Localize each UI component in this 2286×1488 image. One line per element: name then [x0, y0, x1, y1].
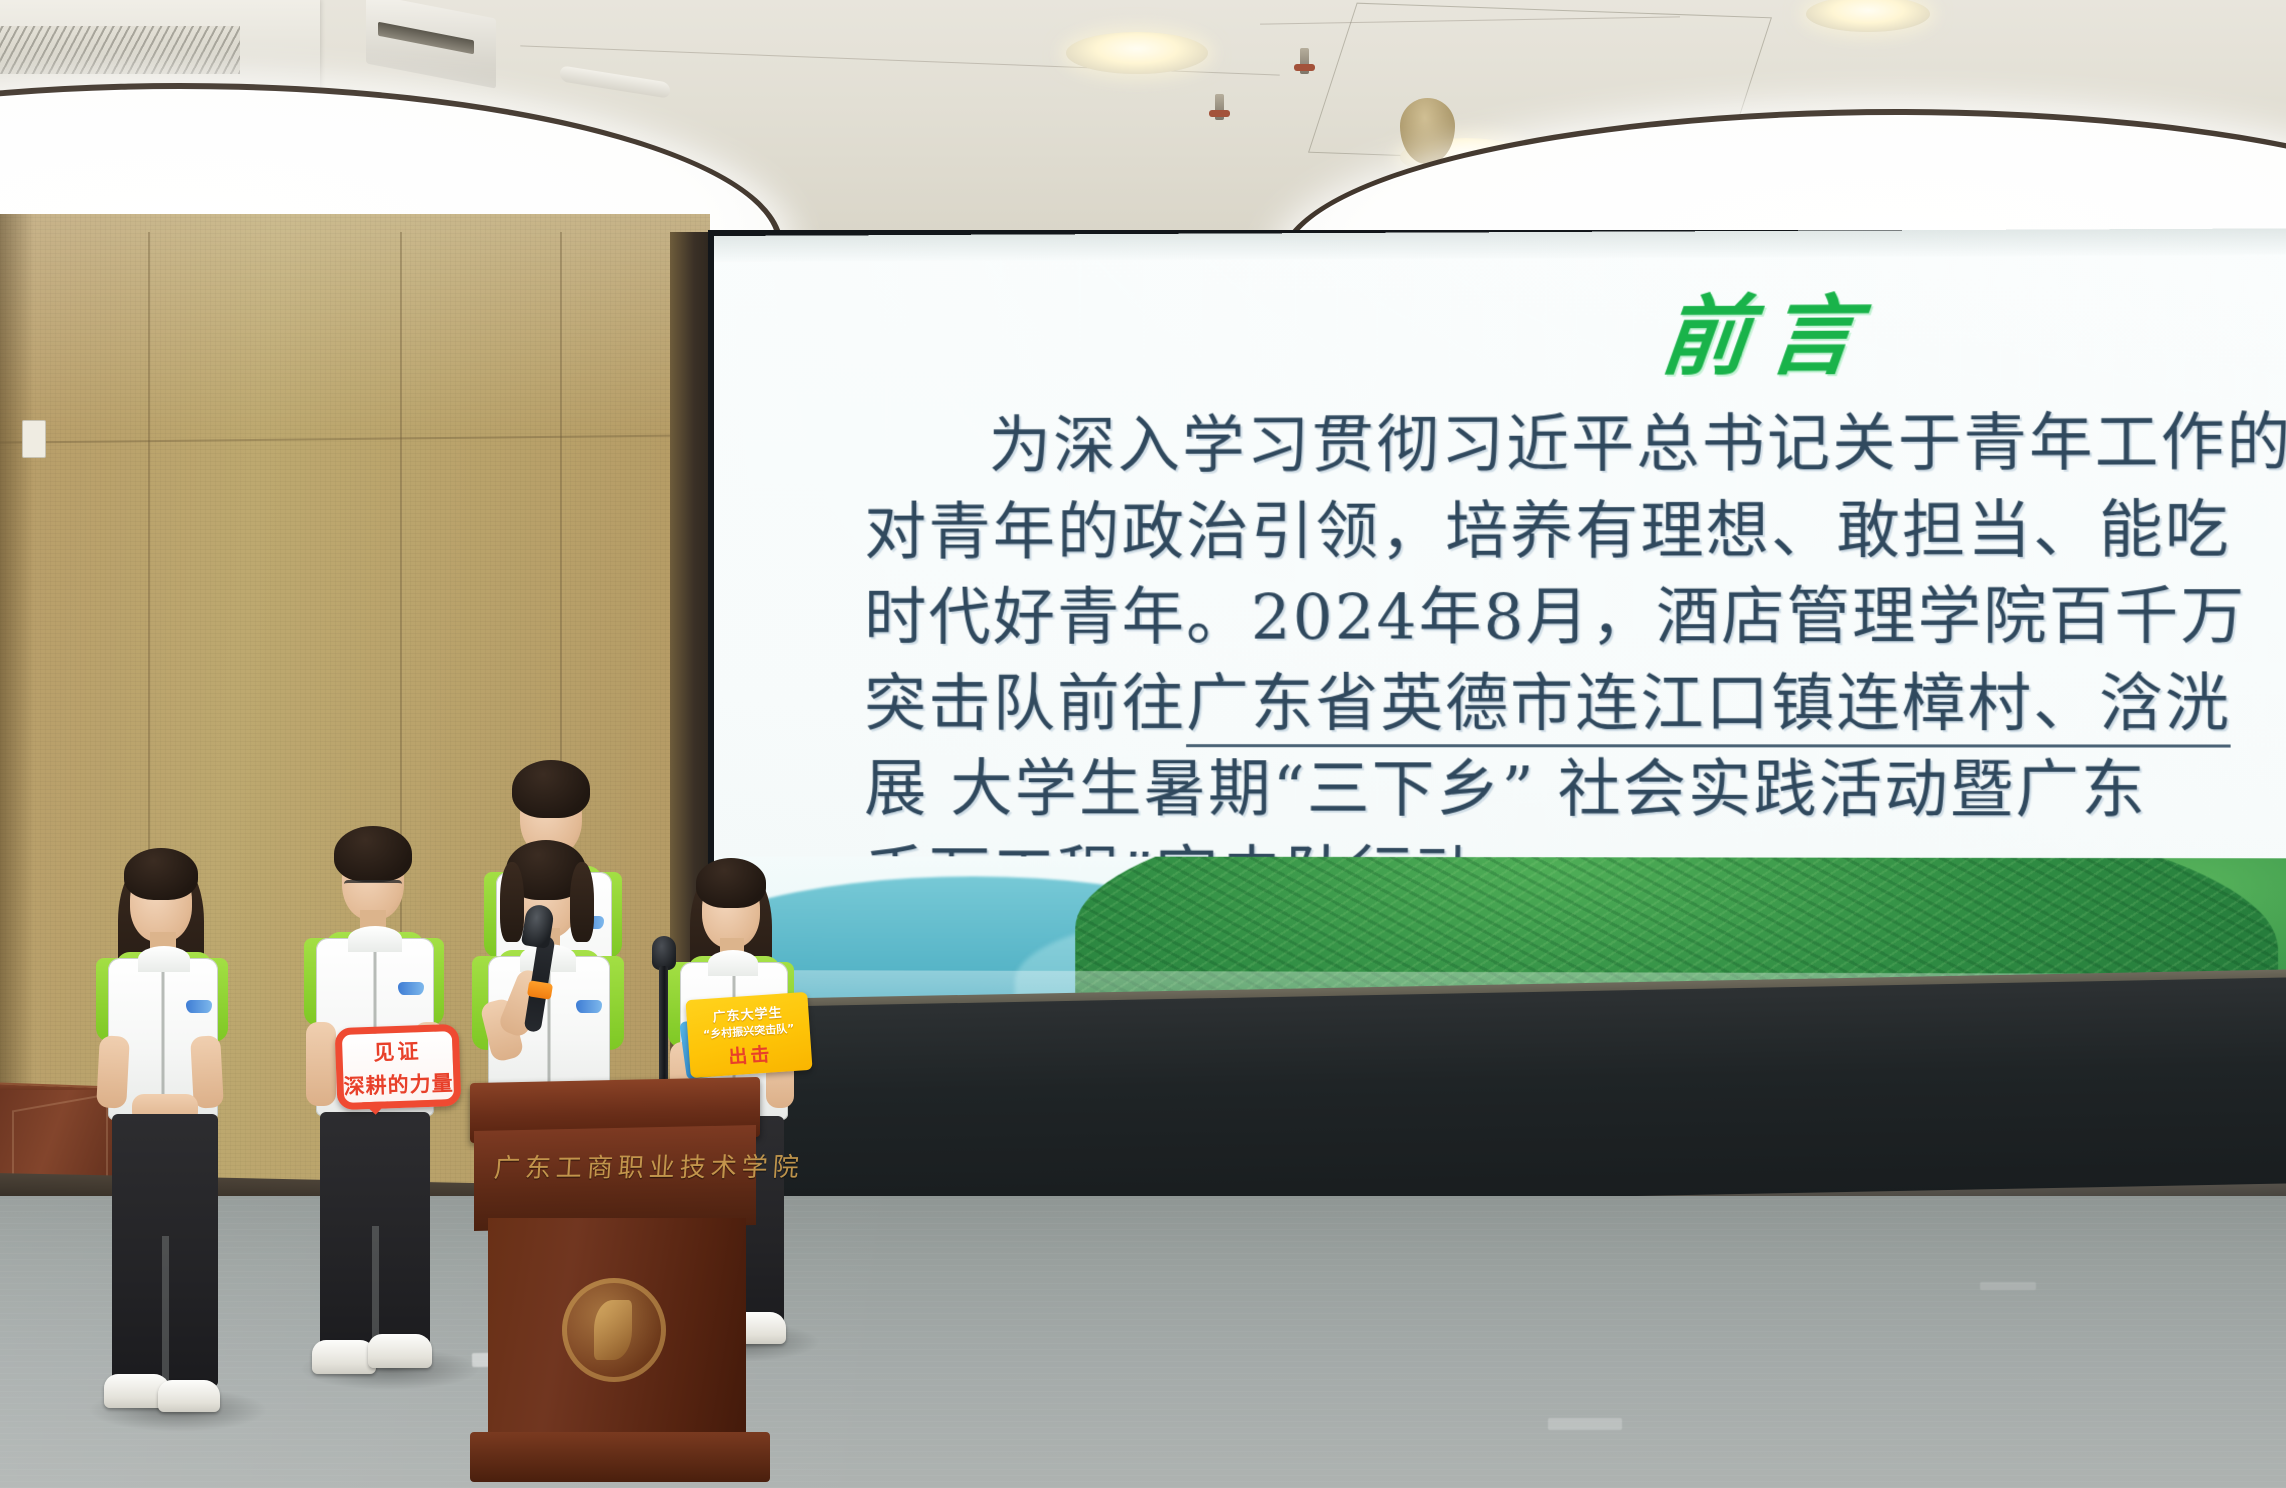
mic-stand-head-icon — [652, 936, 676, 970]
wall-corner-shadow — [0, 214, 34, 1214]
downlight-icon — [1066, 32, 1208, 74]
sign-red-witness[interactable]: 见证 深耕的力量 — [335, 1024, 462, 1110]
sprinkler-head-icon — [1215, 94, 1224, 120]
slide-line-underlined: 广东省英德市连江口镇连樟村、浛洸 — [1186, 666, 2231, 747]
scene-photograph: 前言 为深入学习贯彻习近平总书记关于青年工作的 对青年的政治引领，培养有理想、敢… — [0, 0, 2286, 1488]
slide-title: 前言 — [1656, 265, 1882, 392]
podium-front-panel: 广东工商职业技术学院 — [474, 1125, 756, 1231]
glasses-icon — [344, 880, 402, 892]
ac-grille — [0, 26, 240, 74]
sign-red-line1: 见证 — [373, 1035, 422, 1067]
slide-line: 时代好青年。2024年8月，酒店管理学院百千万 — [864, 573, 2286, 661]
slide-line: 展 大学生暑期“三下乡” 社会实践活动暨广东 — [864, 746, 2286, 834]
mic-stand — [659, 966, 668, 1086]
slide-line: 为深入学习贯彻习近平总书记关于青年工作的 — [864, 399, 2286, 490]
podium-institution-name: 广东工商职业技术学院 — [493, 1147, 805, 1185]
podium-base — [470, 1432, 770, 1482]
slide-line: 对青年的政治引领，培养有理想、敢担当、能吃 — [864, 486, 2286, 575]
sign-red-line2: 深耕的力量 — [343, 1067, 454, 1101]
slide-line: 突击队前往广东省英德市连江口镇连樟村、浛洸 — [864, 660, 2286, 747]
slide-body-text: 为深入学习贯彻习近平总书记关于青年工作的 对青年的政治引领，培养有理想、敢担当、… — [864, 399, 2286, 921]
sign-yellow-line3: 出击 — [689, 1037, 813, 1072]
wall-socket — [22, 420, 46, 458]
school-crest-icon — [562, 1278, 666, 1382]
sprinkler-head-icon — [1300, 48, 1309, 74]
sign-yellow-strike-team[interactable]: 广东大学生 “乡村振兴突击队” 出击 — [685, 992, 812, 1078]
